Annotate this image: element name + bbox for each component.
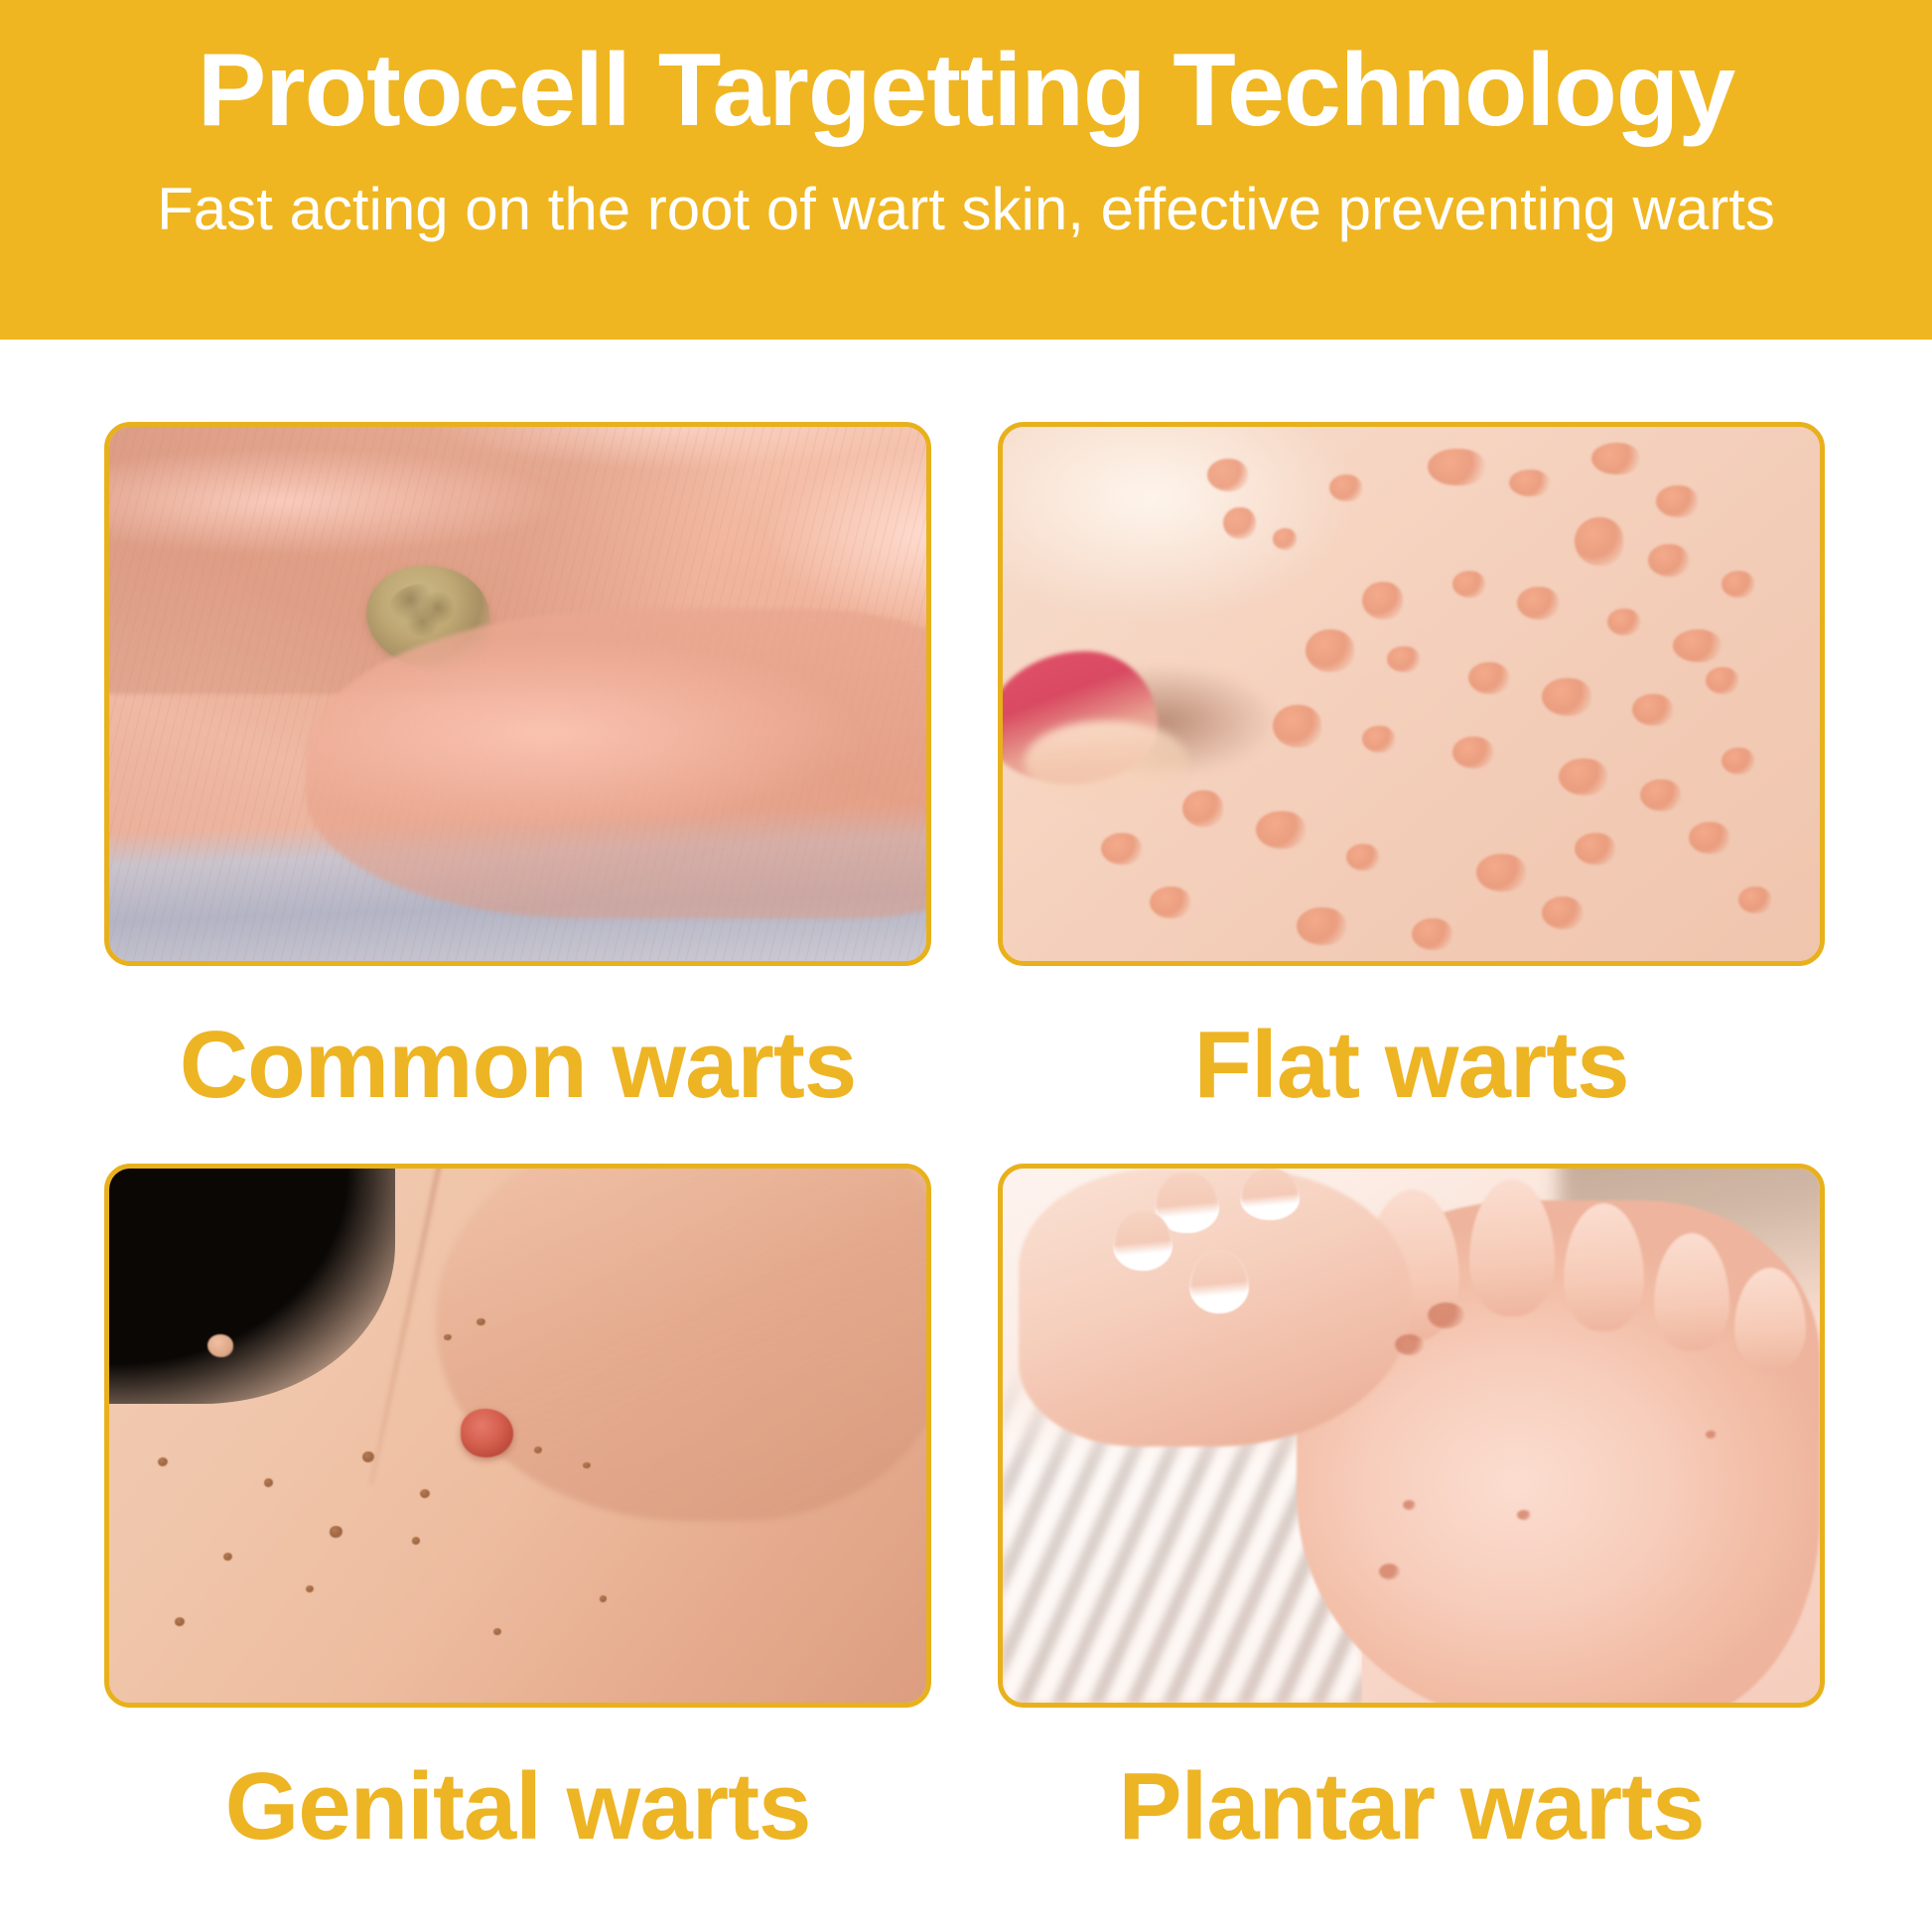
caption-genital-warts: Genital warts — [104, 1759, 931, 1855]
photo-frame-genital-warts — [104, 1164, 931, 1708]
wart-card-genital: Genital warts — [104, 1164, 931, 1855]
caption-flat-warts: Flat warts — [998, 1018, 1825, 1113]
wart-card-plantar: Plantar warts — [998, 1164, 1825, 1855]
photo-frame-flat-warts — [998, 422, 1825, 966]
caption-plantar-warts: Plantar warts — [998, 1759, 1825, 1855]
mole-cluster — [109, 1169, 926, 1703]
header-banner: Protocell Targetting Technology Fast act… — [0, 0, 1932, 340]
photo-frame-common-warts — [104, 422, 931, 966]
page-title: Protocell Targetting Technology — [198, 30, 1734, 152]
photo-common-warts-hand — [109, 427, 926, 961]
page-subtitle: Fast acting on the root of wart skin, ef… — [157, 174, 1775, 245]
wart-card-common: Common warts — [104, 422, 931, 1113]
caption-common-warts: Common warts — [104, 1018, 931, 1113]
photo-frame-plantar-warts — [998, 1164, 1825, 1708]
skin-texture-lines — [109, 427, 926, 961]
flat-wart-cluster — [1003, 427, 1820, 961]
photo-flat-warts-cheek — [1003, 427, 1820, 961]
photo-plantar-warts-foot — [1003, 1169, 1820, 1703]
wart-type-grid: Common warts — [0, 340, 1932, 1932]
plantar-wart-cluster — [1003, 1169, 1820, 1703]
wart-card-flat: Flat warts — [998, 422, 1825, 1113]
photo-genital-warts-neck — [109, 1169, 926, 1703]
